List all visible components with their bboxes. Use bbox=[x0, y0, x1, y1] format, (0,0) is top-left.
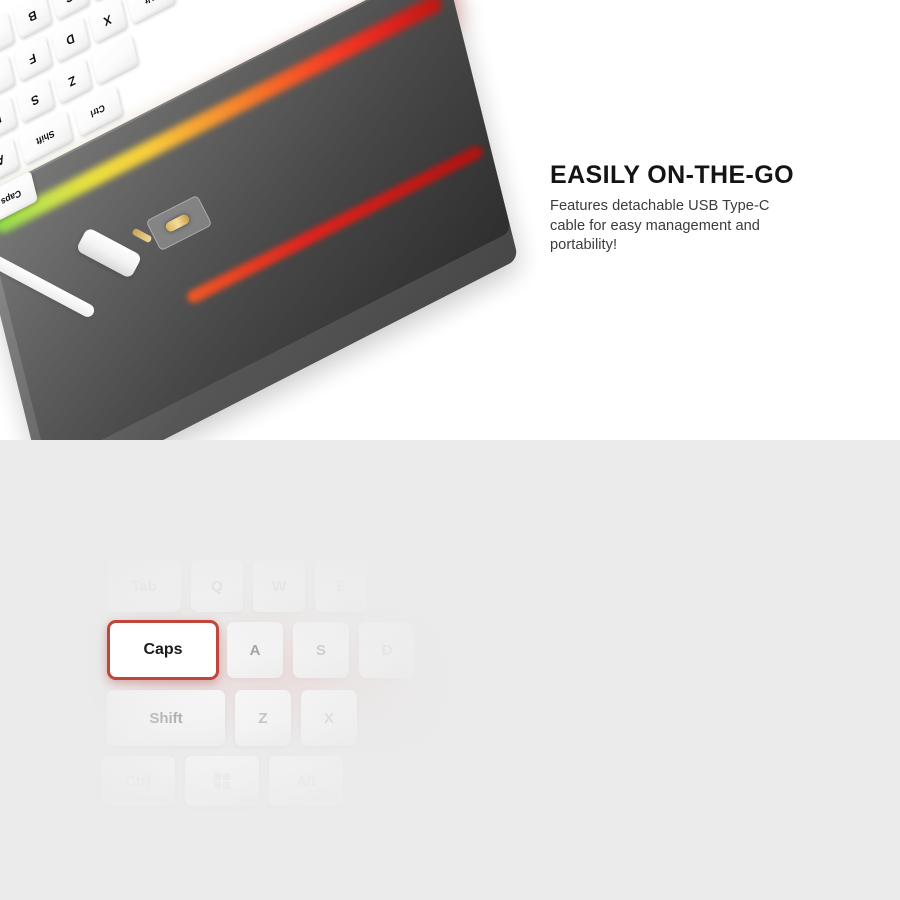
keycap-g: G bbox=[50, 0, 90, 20]
keycap-b: B bbox=[12, 0, 52, 39]
body-easily-on-the-go: Features detachable USB Type-C cable for… bbox=[550, 197, 880, 255]
key-w: W bbox=[253, 560, 305, 612]
key-s: S bbox=[293, 622, 349, 678]
body-line: Features detachable USB Type-C bbox=[550, 197, 880, 216]
key-windows bbox=[185, 756, 259, 806]
keycap-t: R bbox=[0, 55, 15, 101]
key-alt: Alt bbox=[269, 756, 343, 806]
key-q: Q bbox=[191, 560, 243, 612]
key-tab: Tab bbox=[107, 560, 181, 612]
key-z: Z bbox=[235, 690, 291, 746]
key-shift: Shift bbox=[107, 690, 225, 746]
body-line: portability! bbox=[550, 236, 880, 255]
body-line: cable for easy management and bbox=[550, 217, 880, 236]
keycap-f: F bbox=[13, 36, 53, 82]
section-easily-on-the-go: N H B G V C Y R F D X Alt R E S Z bbox=[0, 0, 900, 440]
key-a: A bbox=[227, 622, 283, 678]
caps-key-closeup-photo: Tab Q W E Caps A S D Shift Z X Ctrl Alt bbox=[95, 550, 455, 820]
windows-icon bbox=[214, 773, 230, 789]
key-ctrl: Ctrl bbox=[101, 756, 175, 806]
keycap-caps: Caps bbox=[0, 171, 38, 224]
product-feature-page: N H B G V C Y R F D X Alt R E S Z bbox=[0, 0, 900, 900]
heading-easily-on-the-go: EASILY ON-THE-GO bbox=[550, 162, 880, 188]
keycap-z: Z bbox=[53, 58, 93, 104]
keycap-h: H bbox=[0, 12, 15, 58]
keycap-d: D bbox=[50, 16, 90, 62]
keyboard-with-usbc-cable-photo: N H B G V C Y R F D X Alt R E S Z bbox=[0, 0, 580, 440]
keycap-alt: Alt bbox=[125, 0, 175, 25]
section-magic-fn-key: Tab Q W E Caps A S D Shift Z X Ctrl Alt … bbox=[0, 440, 900, 900]
key-x: X bbox=[301, 690, 357, 746]
copy-block-easily-on-the-go: EASILY ON-THE-GO Features detachable USB… bbox=[550, 162, 880, 255]
keycap-s: S bbox=[15, 77, 55, 123]
key-caps-highlighted[interactable]: Caps bbox=[107, 620, 219, 680]
key-d: D bbox=[359, 622, 415, 678]
key-e: E bbox=[315, 560, 367, 612]
keycap-e: E bbox=[0, 96, 17, 142]
keycap-x: X bbox=[88, 0, 128, 44]
